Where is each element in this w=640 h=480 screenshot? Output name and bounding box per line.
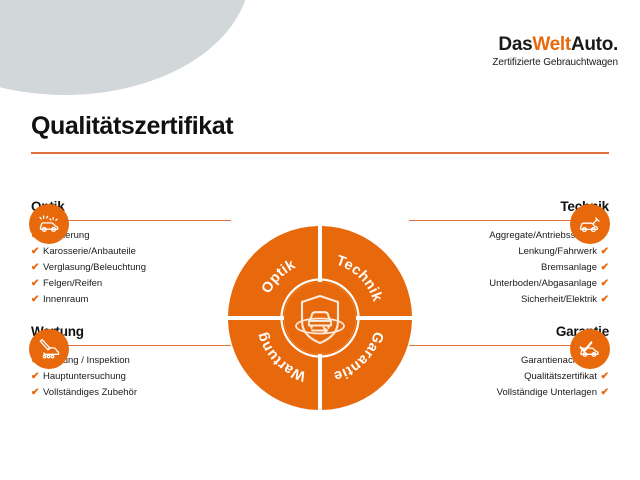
list-item: Unterboden/Abgasanlage✔ (409, 276, 609, 292)
list-item-label: Hauptuntersuchung (43, 371, 126, 382)
list-item: Qualitätszertifikat✔ (409, 369, 609, 385)
car-open-hood-icon (570, 204, 610, 244)
car-shine-icon (29, 204, 69, 244)
list-item-label: Felgen/Reifen (43, 278, 102, 289)
page-title: Qualitätszertifikat (31, 112, 233, 141)
list-item-label: Vollständiges Zubehör (43, 387, 137, 398)
brand-logo-wordmark: DasWeltAuto. (492, 35, 618, 55)
car-check-icon (570, 329, 610, 369)
logo-text-das: Das (498, 34, 532, 55)
list-item: Sicherheit/Elektrik✔ (409, 292, 609, 308)
list-item-label: Unterboden/Abgasanlage (489, 278, 597, 289)
check-icon: ✔ (601, 369, 609, 385)
check-icon: ✔ (31, 369, 39, 385)
check-icon: ✔ (31, 385, 39, 401)
brand-logo: DasWeltAuto. Zertifizierte Gebrauchtwage… (492, 35, 618, 68)
list-item-label: Lenkung/Fahrwerk (518, 246, 597, 257)
check-icon: ✔ (601, 385, 609, 401)
list-item-label: Sicherheit/Elektrik (521, 294, 597, 305)
brand-logo-tagline: Zertifizierte Gebrauchtwagen (492, 57, 618, 68)
list-item-label: Vollständige Unterlagen (497, 387, 597, 398)
check-icon: ✔ (31, 260, 39, 276)
check-icon: ✔ (31, 244, 39, 260)
list-item: Lenkung/Fahrwerk✔ (409, 244, 609, 260)
list-item-label: Karosserie/Anbauteile (43, 246, 136, 257)
list-item-label: Innenraum (43, 294, 88, 305)
check-icon: ✔ (601, 292, 609, 308)
gray-background-shape (0, 0, 250, 95)
logo-text-welt: Welt (532, 34, 571, 55)
list-item: Vollständige Unterlagen✔ (409, 385, 609, 401)
quality-wheel-diagram: Optik Technik Wartung Garantie (224, 222, 416, 414)
list-item: ✔Felgen/Reifen (31, 276, 231, 292)
list-item: ✔Karosserie/Anbauteile (31, 244, 231, 260)
check-icon: ✔ (601, 260, 609, 276)
logo-text-auto: Auto. (571, 34, 618, 55)
list-item: Bremsanlage✔ (409, 260, 609, 276)
list-item-label: Bremsanlage (541, 262, 597, 273)
wrench-car-icon (29, 329, 69, 369)
check-icon: ✔ (31, 276, 39, 292)
list-item-label: Verglasung/Beleuchtung (43, 262, 146, 273)
list-item: ✔Vollständiges Zubehör (31, 385, 231, 401)
title-divider (31, 152, 609, 154)
list-item: ✔Hauptuntersuchung (31, 369, 231, 385)
check-icon: ✔ (601, 276, 609, 292)
list-item-label: Qualitätszertifikat (524, 371, 597, 382)
check-icon: ✔ (601, 244, 609, 260)
list-item: ✔Innenraum (31, 292, 231, 308)
check-icon: ✔ (31, 292, 39, 308)
list-item: ✔Verglasung/Beleuchtung (31, 260, 231, 276)
